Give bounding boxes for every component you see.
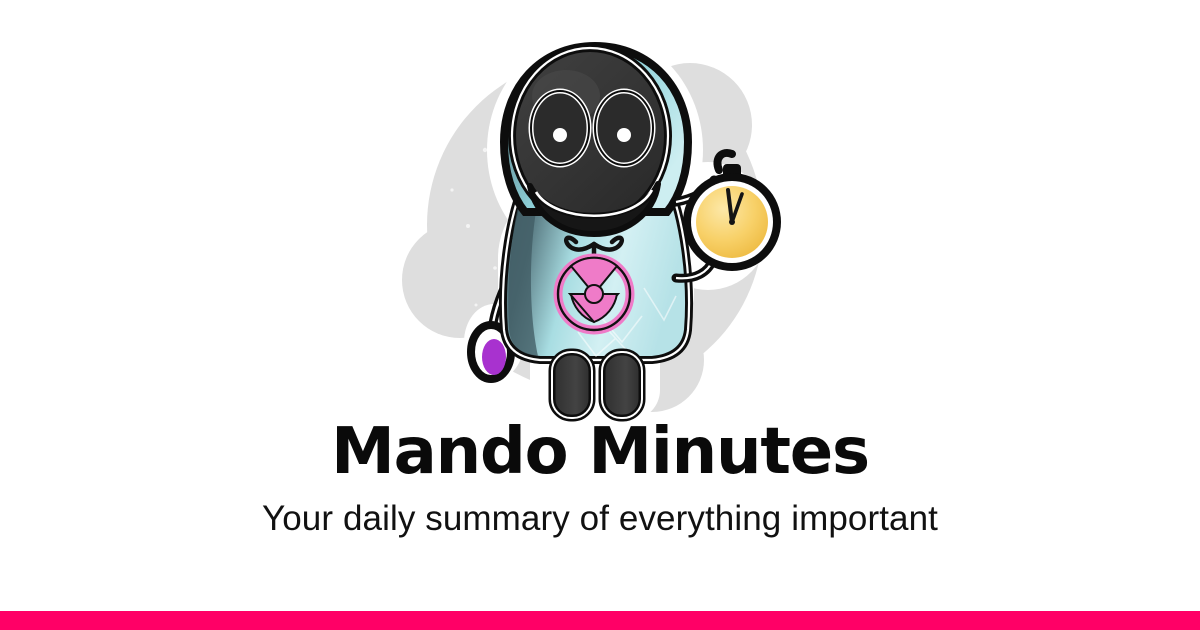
mascot-illustration — [0, 0, 1200, 425]
mando-robot-character — [390, 30, 810, 430]
brand-text-block: Mando Minutes Your daily summary of ever… — [0, 420, 1200, 539]
bottom-accent-bar — [0, 611, 1200, 630]
right-pupil — [617, 128, 631, 142]
purple-pouch-icon — [482, 339, 506, 375]
tagline: Your daily summary of everything importa… — [0, 500, 1200, 539]
brand-banner: Mando Minutes Your daily summary of ever… — [0, 0, 1200, 630]
page-title: Mando Minutes — [0, 420, 1200, 484]
left-pupil — [553, 128, 567, 142]
head — [504, 46, 688, 234]
